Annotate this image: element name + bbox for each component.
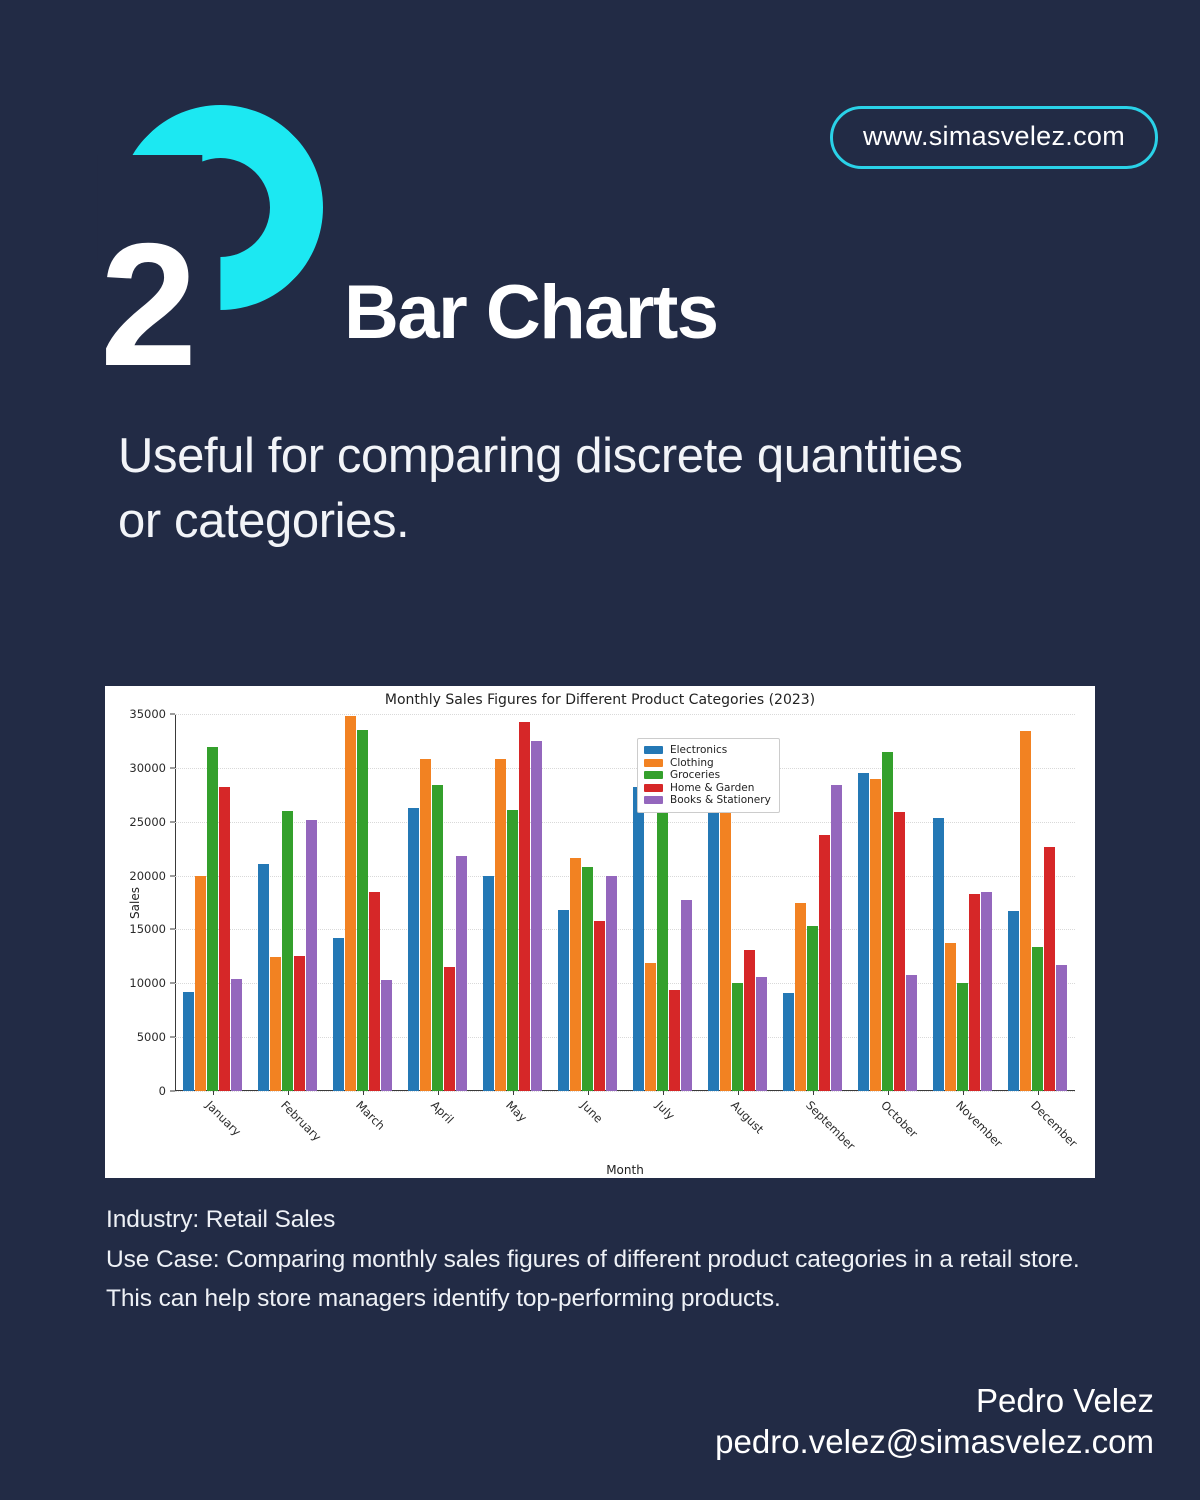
bar[interactable]: [294, 956, 305, 1091]
bar[interactable]: [933, 818, 944, 1091]
legend-item[interactable]: Clothing: [644, 757, 771, 770]
legend-swatch-icon: [644, 771, 663, 779]
x-tick-mark: [813, 1091, 814, 1095]
bar[interactable]: [657, 797, 668, 1091]
bar-group: June: [550, 714, 625, 1091]
x-tick-label: September: [803, 1098, 858, 1153]
bar[interactable]: [456, 856, 467, 1091]
x-tick-mark: [1038, 1091, 1039, 1095]
slide-number: 2: [100, 218, 193, 393]
bar[interactable]: [882, 752, 893, 1091]
bar[interactable]: [1032, 947, 1043, 1091]
x-tick-mark: [513, 1091, 514, 1095]
bar[interactable]: [981, 892, 992, 1091]
bar[interactable]: [720, 790, 731, 1091]
header: www.simasvelez.com 2 Bar Charts: [0, 0, 1200, 400]
legend-label: Home & Garden: [670, 782, 754, 794]
gridline: [175, 1091, 1075, 1092]
legend-label: Clothing: [670, 757, 714, 769]
x-tick-label: June: [578, 1098, 606, 1126]
y-axis-label: Sales: [128, 887, 142, 919]
legend-label: Books & Stationery: [670, 794, 771, 806]
x-tick-mark: [213, 1091, 214, 1095]
chart-panel: Monthly Sales Figures for Different Prod…: [105, 686, 1095, 1178]
bar[interactable]: [345, 716, 356, 1091]
bar-group: November: [925, 714, 1000, 1091]
legend-swatch-icon: [644, 759, 663, 767]
bar[interactable]: [1020, 731, 1031, 1091]
x-tick-label: April: [428, 1098, 456, 1126]
bar[interactable]: [708, 764, 719, 1091]
caption-use-case: Use Case: Comparing monthly sales figure…: [106, 1240, 1086, 1319]
bar[interactable]: [531, 741, 542, 1091]
bar[interactable]: [945, 943, 956, 1091]
y-tick-label: 15000: [129, 922, 166, 936]
bar[interactable]: [732, 983, 743, 1091]
bar-group: March: [325, 714, 400, 1091]
x-tick-label: November: [953, 1098, 1005, 1150]
bar[interactable]: [570, 858, 581, 1091]
bar[interactable]: [507, 810, 518, 1091]
bar[interactable]: [519, 722, 530, 1091]
legend-swatch-icon: [644, 796, 663, 804]
y-tick-label: 35000: [129, 707, 166, 721]
x-tick-label: February: [278, 1098, 324, 1144]
legend-item[interactable]: Books & Stationery: [644, 794, 771, 807]
bar-group: January: [175, 714, 250, 1091]
bar[interactable]: [894, 812, 905, 1091]
bar[interactable]: [594, 921, 605, 1091]
bar[interactable]: [831, 785, 842, 1091]
bar[interactable]: [183, 992, 194, 1091]
bar[interactable]: [270, 957, 281, 1091]
legend-item[interactable]: Electronics: [644, 744, 771, 757]
chart-legend: ElectronicsClothingGroceriesHome & Garde…: [637, 738, 780, 813]
y-tick-label: 25000: [129, 815, 166, 829]
bar-groups: JanuaryFebruaryMarchAprilMayJuneJulyAugu…: [175, 714, 1075, 1091]
bar-group: October: [850, 714, 925, 1091]
bar[interactable]: [645, 963, 656, 1091]
bar[interactable]: [669, 990, 680, 1091]
bar-group: May: [475, 714, 550, 1091]
bar[interactable]: [819, 835, 830, 1091]
x-tick-label: December: [1028, 1098, 1080, 1150]
bar[interactable]: [582, 867, 593, 1091]
bar[interactable]: [957, 983, 968, 1091]
x-tick-mark: [363, 1091, 364, 1095]
footer-author-email[interactable]: pedro.velez@simasvelez.com: [715, 1421, 1154, 1462]
bar[interactable]: [195, 876, 206, 1091]
bar[interactable]: [906, 975, 917, 1091]
bar[interactable]: [483, 876, 494, 1091]
plot-area: Sales 0500010000150002000025000300003500…: [175, 714, 1075, 1091]
bar[interactable]: [381, 980, 392, 1091]
x-tick-label: October: [878, 1098, 920, 1140]
bar[interactable]: [1008, 911, 1019, 1091]
caption-block: Industry: Retail Sales Use Case: Compari…: [106, 1200, 1086, 1319]
bar-group: February: [250, 714, 325, 1091]
bar[interactable]: [369, 892, 380, 1091]
x-tick-label: May: [503, 1098, 530, 1125]
footer-author-name: Pedro Velez: [715, 1380, 1154, 1421]
bar[interactable]: [357, 730, 368, 1091]
x-tick-mark: [738, 1091, 739, 1095]
bar[interactable]: [495, 759, 506, 1091]
x-tick-label: August: [728, 1098, 766, 1136]
x-tick-mark: [438, 1091, 439, 1095]
bar[interactable]: [1044, 847, 1055, 1092]
legend-swatch-icon: [644, 746, 663, 754]
footer: Pedro Velez pedro.velez@simasvelez.com: [715, 1380, 1154, 1463]
bar[interactable]: [282, 811, 293, 1091]
legend-label: Electronics: [670, 744, 727, 756]
bar-group: September: [775, 714, 850, 1091]
x-tick-mark: [888, 1091, 889, 1095]
bar[interactable]: [420, 759, 431, 1091]
website-url-pill[interactable]: www.simasvelez.com: [830, 106, 1158, 169]
bar[interactable]: [258, 864, 269, 1091]
bar-group: April: [400, 714, 475, 1091]
bar[interactable]: [231, 979, 242, 1091]
y-tick-label: 0: [159, 1084, 166, 1098]
legend-item[interactable]: Groceries: [644, 769, 771, 782]
page-title: Bar Charts: [344, 275, 718, 351]
x-tick-mark: [963, 1091, 964, 1095]
bar[interactable]: [444, 967, 455, 1091]
bar[interactable]: [558, 910, 569, 1091]
bar[interactable]: [633, 787, 644, 1091]
bar[interactable]: [969, 894, 980, 1091]
bar[interactable]: [807, 926, 818, 1091]
x-tick-label: March: [353, 1098, 388, 1133]
bar[interactable]: [870, 779, 881, 1091]
bar[interactable]: [858, 773, 869, 1091]
legend-label: Groceries: [670, 769, 720, 781]
bar[interactable]: [207, 747, 218, 1091]
x-tick-mark: [588, 1091, 589, 1095]
bar-group: December: [1000, 714, 1075, 1091]
x-axis-label: Month: [175, 1163, 1075, 1177]
bar[interactable]: [795, 903, 806, 1092]
x-tick-mark: [663, 1091, 664, 1095]
page-subtitle: Useful for comparing discrete quantities…: [118, 424, 998, 553]
bar[interactable]: [1056, 965, 1067, 1091]
bar[interactable]: [219, 787, 230, 1091]
bar[interactable]: [333, 938, 344, 1091]
bar[interactable]: [681, 900, 692, 1091]
bar[interactable]: [744, 950, 755, 1091]
bar[interactable]: [408, 808, 419, 1091]
chart-title: Monthly Sales Figures for Different Prod…: [105, 692, 1095, 708]
bar[interactable]: [306, 820, 317, 1091]
bar[interactable]: [783, 993, 794, 1091]
y-tick-label: 10000: [129, 976, 166, 990]
caption-industry: Industry: Retail Sales: [106, 1200, 1086, 1240]
bar[interactable]: [606, 876, 617, 1091]
legend-item[interactable]: Home & Garden: [644, 782, 771, 795]
bar[interactable]: [432, 785, 443, 1091]
y-tick-label: 20000: [129, 869, 166, 883]
y-tick-label: 5000: [137, 1030, 166, 1044]
x-tick-label: July: [653, 1098, 678, 1123]
y-tick-label: 30000: [129, 761, 166, 775]
x-tick-label: January: [203, 1098, 244, 1139]
legend-swatch-icon: [644, 784, 663, 792]
bar[interactable]: [756, 977, 767, 1091]
x-tick-mark: [288, 1091, 289, 1095]
